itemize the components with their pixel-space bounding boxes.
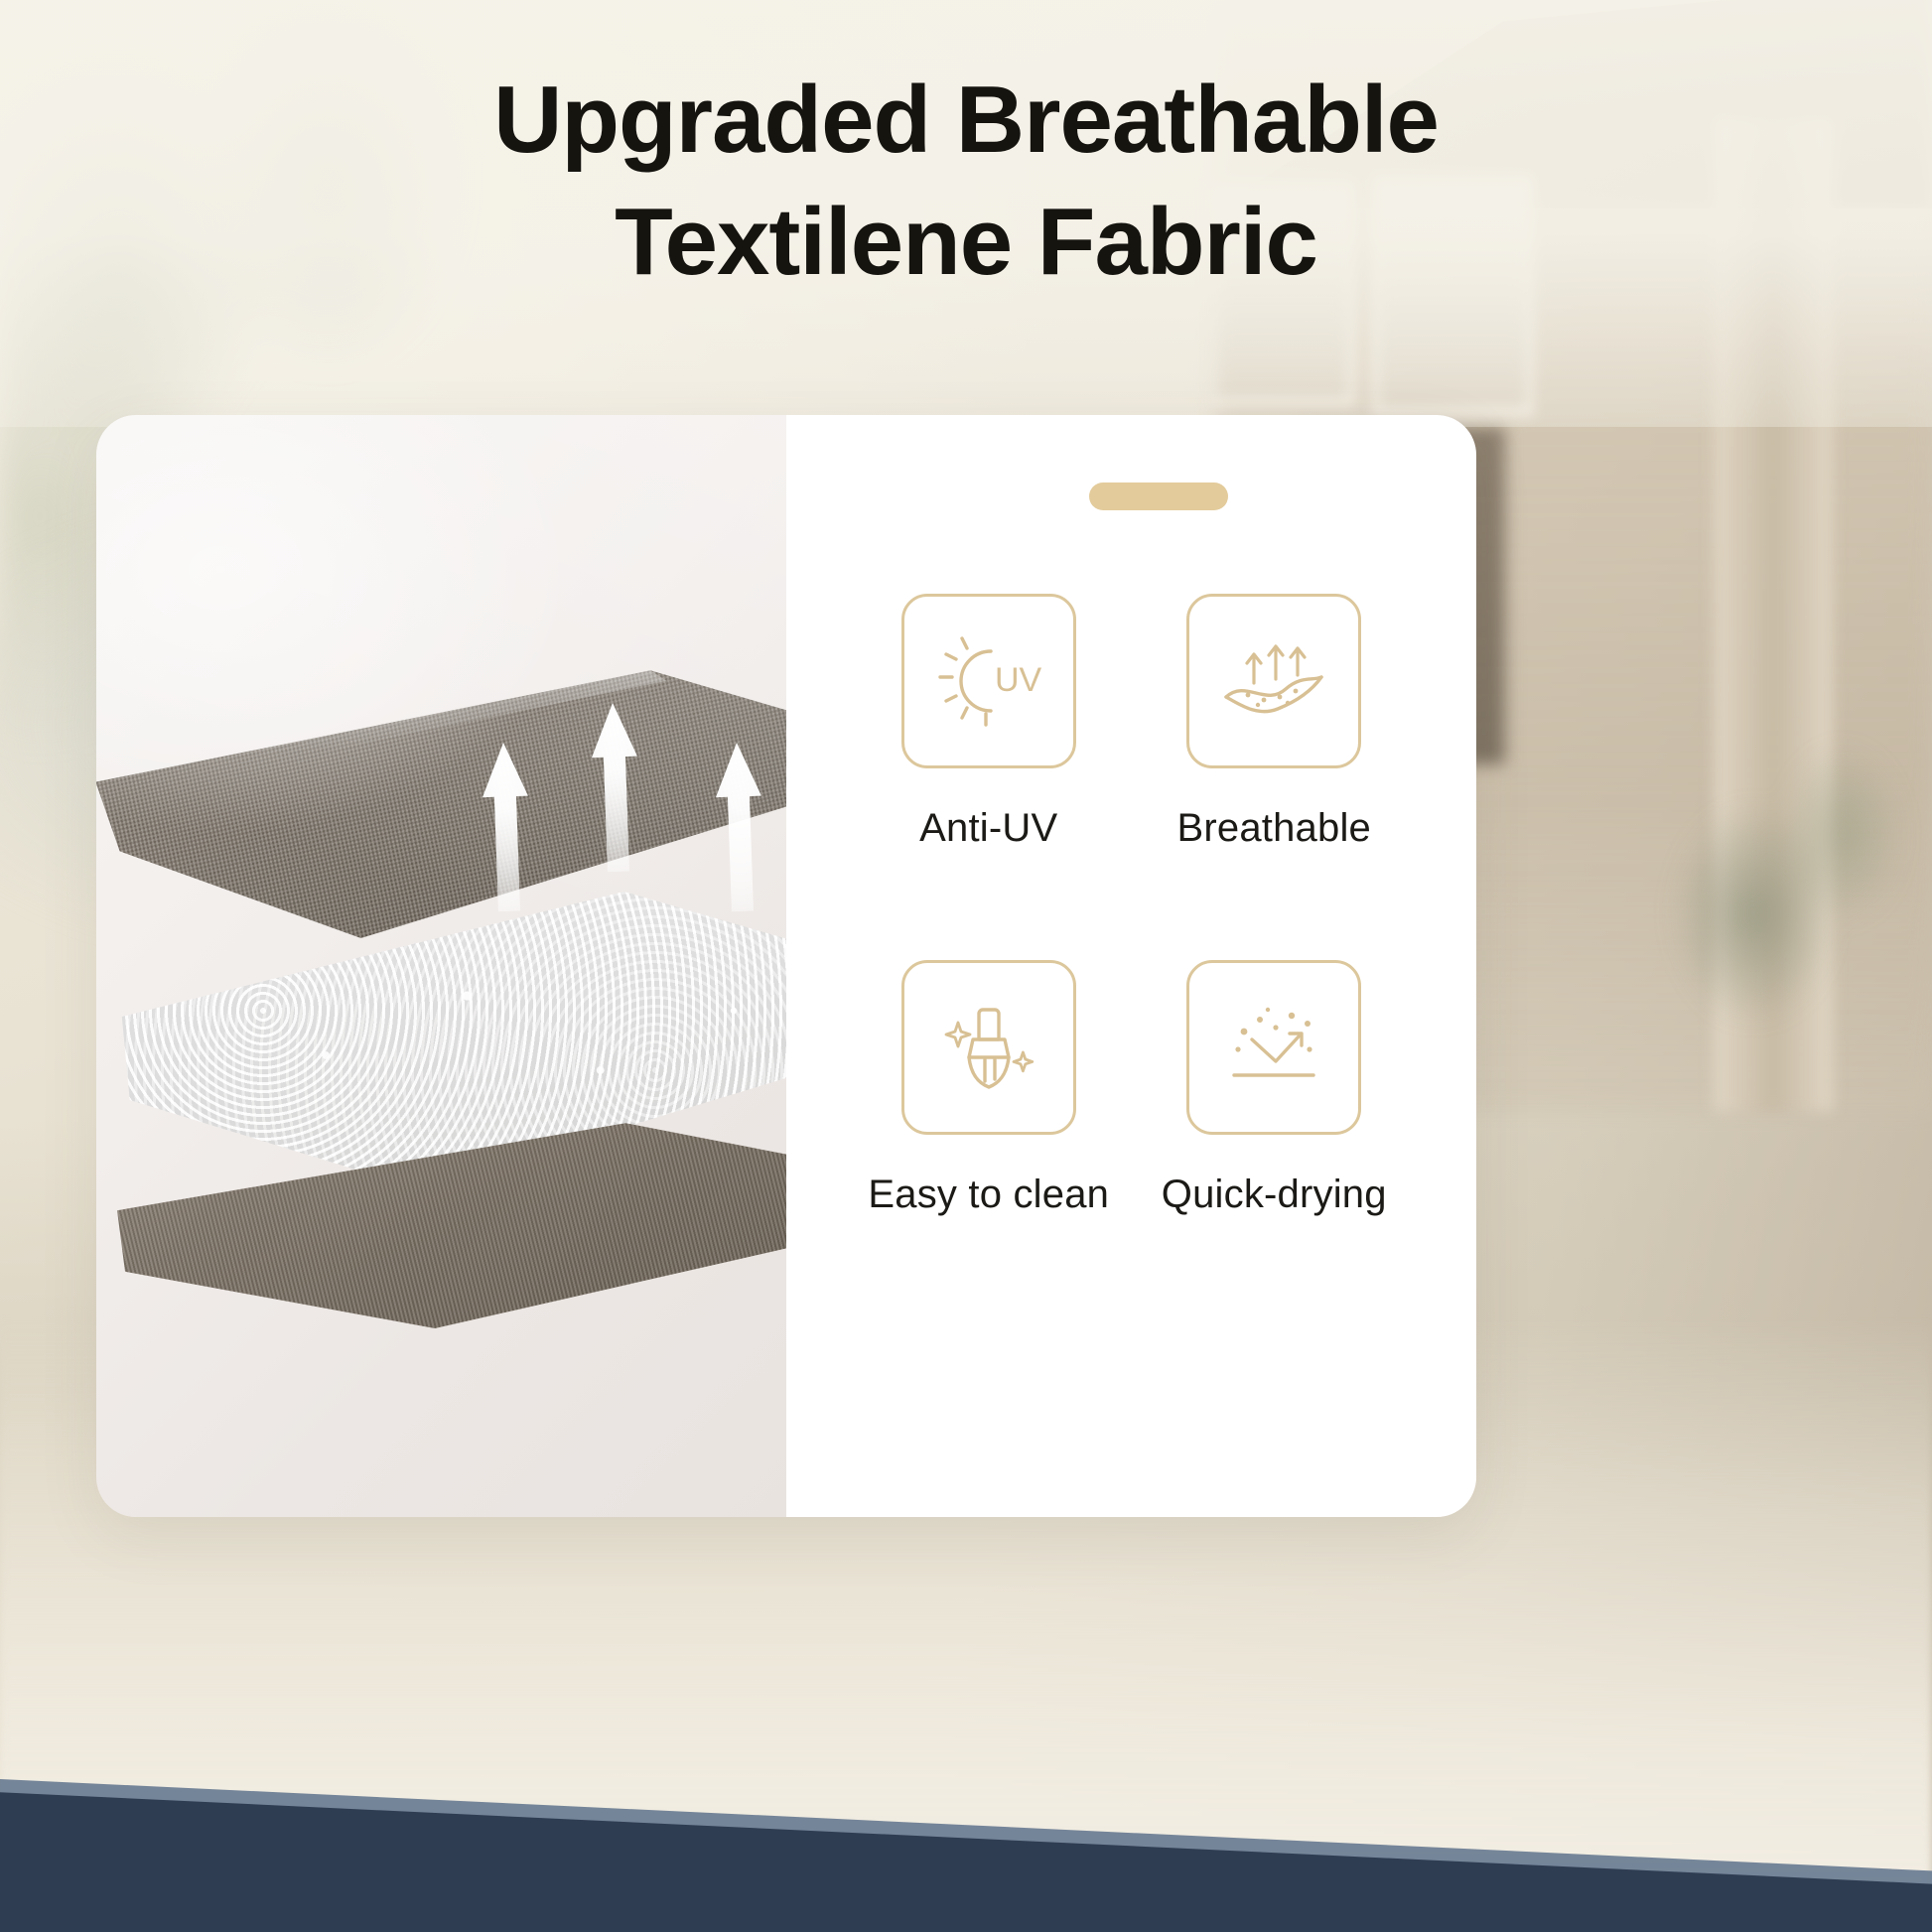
feature-label-breathable: Breathable <box>1177 806 1371 851</box>
bottom-band-dark-stripe <box>0 1714 1932 1932</box>
top-textilene-fabric-layer <box>96 661 786 943</box>
promo-image: Upgraded Breathable Textilene Fabric <box>0 0 1932 1932</box>
uv-sun-icon: UV <box>901 594 1076 768</box>
feature-label-anti-uv: Anti-UV <box>919 806 1057 851</box>
cleaning-brush-icon <box>901 960 1076 1135</box>
feature-grid: UV Anti-UV <box>786 594 1476 1217</box>
airflow-arrow-icon <box>714 742 765 912</box>
feature-item-easy-to-clean: Easy to clean <box>846 960 1132 1217</box>
feature-item-anti-uv: UV Anti-UV <box>846 594 1132 851</box>
airflow-arrow-icon <box>590 702 641 873</box>
cushion-layers-photo <box>96 415 786 1517</box>
headline-line-2: Textilene Fabric <box>119 182 1813 304</box>
feature-label-quick-drying: Quick-drying <box>1162 1173 1387 1217</box>
airflow-arrow-icon <box>481 742 532 912</box>
feature-item-quick-drying: Quick-drying <box>1132 960 1418 1217</box>
breathable-fabric-arrows-icon <box>1186 594 1361 768</box>
quick-drying-droplets-icon <box>1186 960 1361 1135</box>
background-plant <box>1614 715 1912 1132</box>
page-title: Upgraded Breathable Textilene Fabric <box>0 60 1932 304</box>
features-panel: UV Anti-UV <box>786 415 1476 1517</box>
feature-item-breathable: Breathable <box>1132 594 1418 851</box>
bottom-band <box>0 1714 1932 1932</box>
headline-line-1: Upgraded Breathable <box>493 67 1439 173</box>
feature-label-easy-to-clean: Easy to clean <box>868 1173 1109 1217</box>
uv-icon-text: UV <box>995 661 1042 699</box>
feature-card: UV Anti-UV <box>96 415 1476 1517</box>
gold-divider-bar <box>1089 483 1228 510</box>
